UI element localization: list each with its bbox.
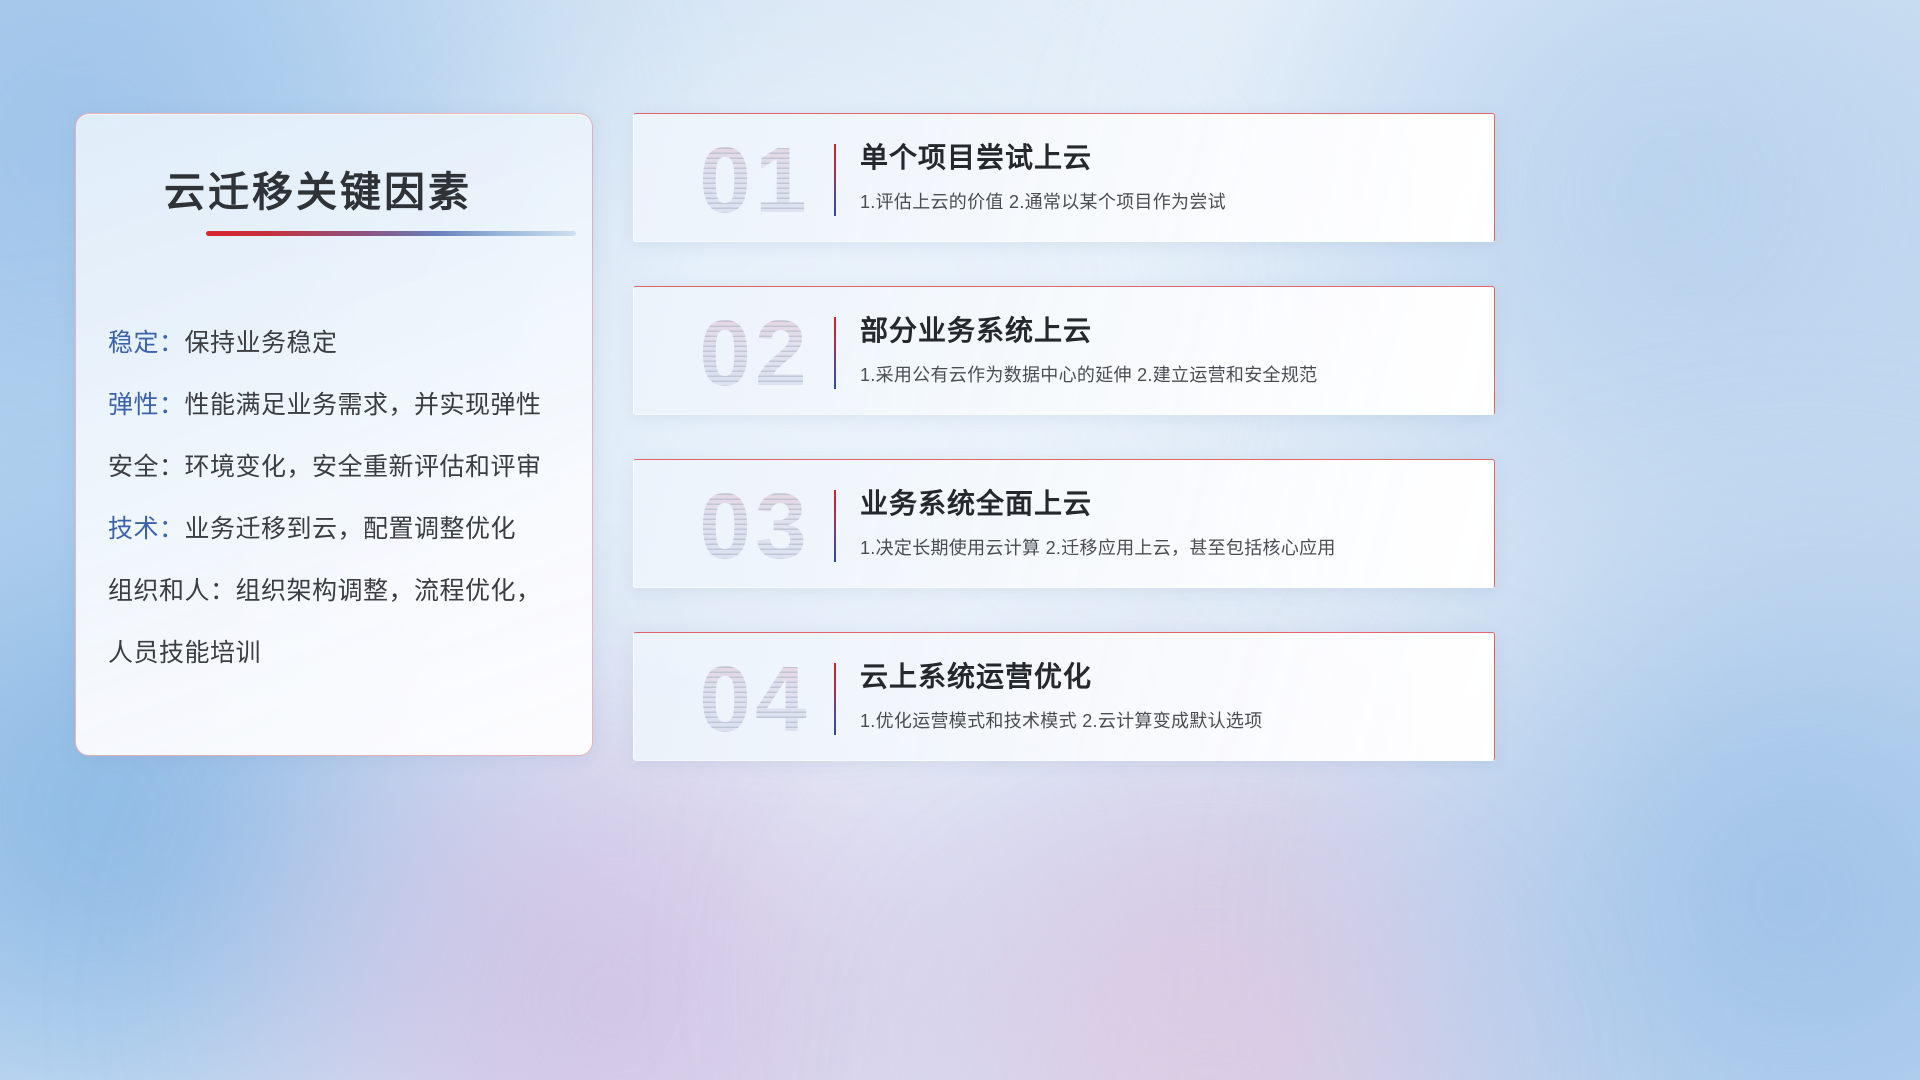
factor-key: 稳定：: [108, 329, 185, 357]
stage-title: 云上系统运营优化: [860, 655, 1092, 695]
stage-subtitle: 1.决定长期使用云计算 2.迁移应用上云，甚至包括核心应用: [860, 534, 1336, 560]
stage-card-03[interactable]: 03 业务系统全面上云 1.决定长期使用云计算 2.迁移应用上云，甚至包括核心应…: [633, 459, 1495, 588]
list-item: 弹性：性能满足业务需求，并实现弹性: [108, 374, 572, 436]
factor-key: 弹性：: [108, 391, 185, 419]
factor-text: 组织架构调整，流程优化，: [236, 577, 542, 605]
list-item: 组织和人：组织架构调整，流程优化，: [108, 560, 572, 622]
list-item: 人员技能培训: [108, 622, 572, 684]
stage-card-01[interactable]: 01 单个项目尝试上云 1.评估上云的价值 2.通常以某个项目作为尝试: [633, 113, 1495, 242]
list-item: 稳定：保持业务稳定: [108, 312, 572, 374]
stage-title: 部分业务系统上云: [860, 309, 1092, 349]
stage-title: 业务系统全面上云: [860, 482, 1092, 522]
panel-title: 云迁移关键因素: [164, 158, 472, 218]
factor-text: 性能满足业务需求，并实现弹性: [185, 391, 542, 419]
key-factors-list: 稳定：保持业务稳定 弹性：性能满足业务需求，并实现弹性 安全：环境变化，安全重新…: [108, 312, 572, 684]
stage-subtitle: 1.评估上云的价值 2.通常以某个项目作为尝试: [860, 188, 1226, 214]
factor-text: 环境变化，安全重新评估和评审: [185, 453, 542, 481]
factor-text: 人员技能培训: [108, 639, 261, 667]
stage-number-watermark: 04: [660, 645, 850, 753]
list-item: 技术：业务迁移到云，配置调整优化: [108, 498, 572, 560]
title-underline-rule: [206, 231, 576, 236]
factor-key: 安全：: [108, 453, 185, 481]
stage-number-watermark: 03: [660, 472, 850, 580]
slide-stage: 云迁移关键因素 稳定：保持业务稳定 弹性：性能满足业务需求，并实现弹性 安全：环…: [0, 0, 1920, 1080]
factor-key: 组织和人：: [108, 577, 236, 605]
stage-divider-bar: [834, 490, 836, 562]
stage-divider-bar: [834, 144, 836, 216]
factor-key: 技术：: [108, 515, 185, 543]
stage-card-02[interactable]: 02 部分业务系统上云 1.采用公有云作为数据中心的延伸 2.建立运营和安全规范: [633, 286, 1495, 415]
stage-card-04[interactable]: 04 云上系统运营优化 1.优化运营模式和技术模式 2.云计算变成默认选项: [633, 632, 1495, 761]
factor-text: 保持业务稳定: [185, 329, 338, 357]
list-item: 安全：环境变化，安全重新评估和评审: [108, 436, 572, 498]
stage-subtitle: 1.优化运营模式和技术模式 2.云计算变成默认选项: [860, 707, 1263, 733]
factor-text: 业务迁移到云，配置调整优化: [185, 515, 517, 543]
stage-divider-bar: [834, 317, 836, 389]
stage-cards: 01 单个项目尝试上云 1.评估上云的价值 2.通常以某个项目作为尝试 02 部…: [633, 113, 1495, 805]
stage-number-watermark: 01: [660, 126, 850, 234]
stage-title: 单个项目尝试上云: [860, 136, 1092, 176]
stage-subtitle: 1.采用公有云作为数据中心的延伸 2.建立运营和安全规范: [860, 361, 1317, 387]
key-factors-panel: 云迁移关键因素 稳定：保持业务稳定 弹性：性能满足业务需求，并实现弹性 安全：环…: [75, 113, 593, 756]
stage-divider-bar: [834, 663, 836, 735]
stage-number-watermark: 02: [660, 299, 850, 407]
